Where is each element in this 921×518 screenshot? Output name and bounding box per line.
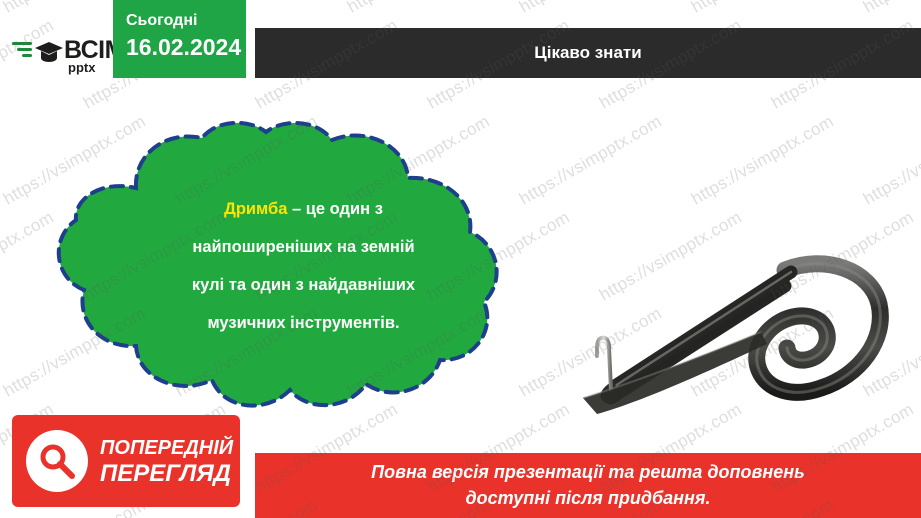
- date-badge-label: Сьогодні: [126, 10, 246, 32]
- footer-text: Повна версія презентації та решта доповн…: [255, 459, 921, 511]
- logo-suffix: pptx: [68, 60, 95, 75]
- footer-bar: Повна версія презентації та решта доповн…: [255, 453, 921, 518]
- jaw-harp-photo: [553, 248, 893, 433]
- date-badge-value: 16.02.2024: [126, 32, 246, 62]
- callout-line-1: Дримба – це один з: [126, 190, 481, 228]
- preview-badge-line-1: ПОПЕРЕДНІЙ: [100, 435, 233, 461]
- preview-badge-line-2: ПЕРЕГЛЯД: [100, 461, 233, 487]
- watermark-text: https://vsimpptx.com: [860, 112, 921, 210]
- watermark-text: https://vsimpptx.com: [860, 0, 921, 17]
- magnifier-icon: [26, 430, 88, 492]
- callout-line-2: найпоширеніших на земній: [126, 228, 481, 266]
- preview-badge-labels: ПОПЕРЕДНІЙ ПЕРЕГЛЯД: [100, 435, 233, 487]
- date-badge: Сьогодні 16.02.2024: [113, 0, 246, 78]
- slide: Цікаво знати ВСІМ pptx Сьогодні 16.02.20…: [0, 0, 921, 518]
- footer-line-2: доступні після придбання.: [255, 485, 921, 511]
- callout-line-1-rest: – це один з: [287, 200, 382, 218]
- cloud-callout: Дримба – це один з найпоширеніших на зем…: [26, 118, 566, 418]
- graduation-cap-icon: [34, 40, 64, 64]
- callout-highlight-word: Дримба: [224, 200, 287, 218]
- speed-lines-icon: [12, 42, 34, 64]
- page-title: Цікаво знати: [255, 28, 921, 78]
- watermark-text: https://vsimpptx.com: [688, 0, 837, 17]
- callout-line-4: музичних інструментів.: [126, 304, 481, 342]
- watermark-text: https://vsimpptx.com: [688, 112, 837, 210]
- footer-line-1: Повна версія презентації та решта доповн…: [255, 459, 921, 485]
- preview-badge: ПОПЕРЕДНІЙ ПЕРЕГЛЯД: [12, 415, 240, 507]
- header-bar: Цікаво знати: [255, 28, 921, 78]
- callout-line-3: кулі та один з найдавніших: [126, 266, 481, 304]
- callout-text: Дримба – це один з найпоширеніших на зем…: [126, 190, 481, 342]
- watermark-text: https://vsimpptx.com: [344, 0, 493, 17]
- watermark-text: https://vsimpptx.com: [516, 0, 665, 17]
